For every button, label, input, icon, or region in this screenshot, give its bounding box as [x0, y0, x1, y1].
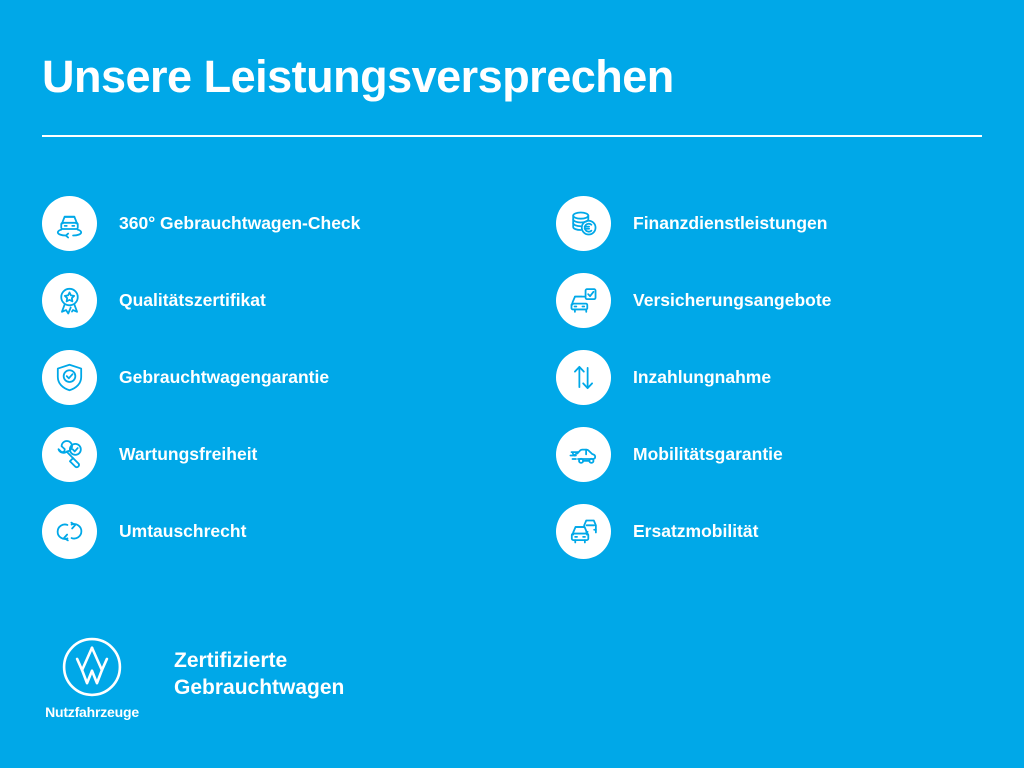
benefit-item-used-car-warranty[interactable]: Gebrauchtwagengarantie [42, 350, 488, 405]
page-title: Unsere Leistungsversprechen [42, 52, 674, 102]
benefit-item-insurance-offers[interactable]: Versicherungsangebote [556, 273, 1002, 328]
brand-claim-line-1: Zertifizierte [174, 648, 344, 675]
brand-claim: Zertifizierte Gebrauchtwagen [174, 648, 344, 702]
brand-lockup: Nutzfahrzeuge Zertifizierte Gebrauchtwag… [38, 636, 344, 720]
benefit-label: Mobilitätsgarantie [633, 444, 783, 465]
benefit-label: Finanzdienstleistungen [633, 213, 827, 234]
shield-check-icon [42, 350, 97, 405]
coins-euro-icon [556, 196, 611, 251]
benefit-label: Gebrauchtwagengarantie [119, 367, 329, 388]
benefit-item-quality-certificate[interactable]: Qualitätszertifikat [42, 273, 488, 328]
award-rosette-icon [42, 273, 97, 328]
slide-root: Unsere Leistungsversprechen 360° [0, 0, 1024, 768]
up-down-arrows-icon [556, 350, 611, 405]
benefit-item-maintenance-free[interactable]: Wartungsfreiheit [42, 427, 488, 482]
benefit-item-replacement-mobility[interactable]: Ersatzmobilität [556, 504, 1002, 559]
exchange-arrows-icon [42, 504, 97, 559]
benefit-label: 360° Gebrauchtwagen-Check [119, 213, 360, 234]
benefit-item-360-check[interactable]: 360° Gebrauchtwagen-Check [42, 196, 488, 251]
benefit-item-financial-services[interactable]: Finanzdienstleistungen [556, 196, 1002, 251]
benefit-label: Ersatzmobilität [633, 521, 758, 542]
benefit-label: Wartungsfreiheit [119, 444, 257, 465]
wrench-check-icon [42, 427, 97, 482]
car-motion-icon [556, 427, 611, 482]
car-360-check-icon [42, 196, 97, 251]
title-divider [42, 135, 982, 137]
benefit-item-mobility-guarantee[interactable]: Mobilitätsgarantie [556, 427, 1002, 482]
two-cars-icon [556, 504, 611, 559]
benefits-right-column: Finanzdienstleistungen Versicherungsange… [556, 196, 1002, 559]
benefit-item-exchange-right[interactable]: Umtauschrecht [42, 504, 488, 559]
volkswagen-logo-icon [61, 636, 123, 698]
car-checkbox-icon [556, 273, 611, 328]
benefit-label: Inzahlungnahme [633, 367, 771, 388]
benefits-grid: 360° Gebrauchtwagen-Check Qualitätszerti… [42, 196, 1002, 559]
brand-mark: Nutzfahrzeuge [38, 636, 146, 720]
brand-claim-line-2: Gebrauchtwagen [174, 675, 344, 702]
benefit-label: Umtauschrecht [119, 521, 246, 542]
brand-subtitle: Nutzfahrzeuge [45, 704, 139, 720]
benefits-left-column: 360° Gebrauchtwagen-Check Qualitätszerti… [42, 196, 488, 559]
benefit-label: Qualitätszertifikat [119, 290, 266, 311]
benefit-item-trade-in[interactable]: Inzahlungnahme [556, 350, 1002, 405]
benefit-label: Versicherungsangebote [633, 290, 831, 311]
